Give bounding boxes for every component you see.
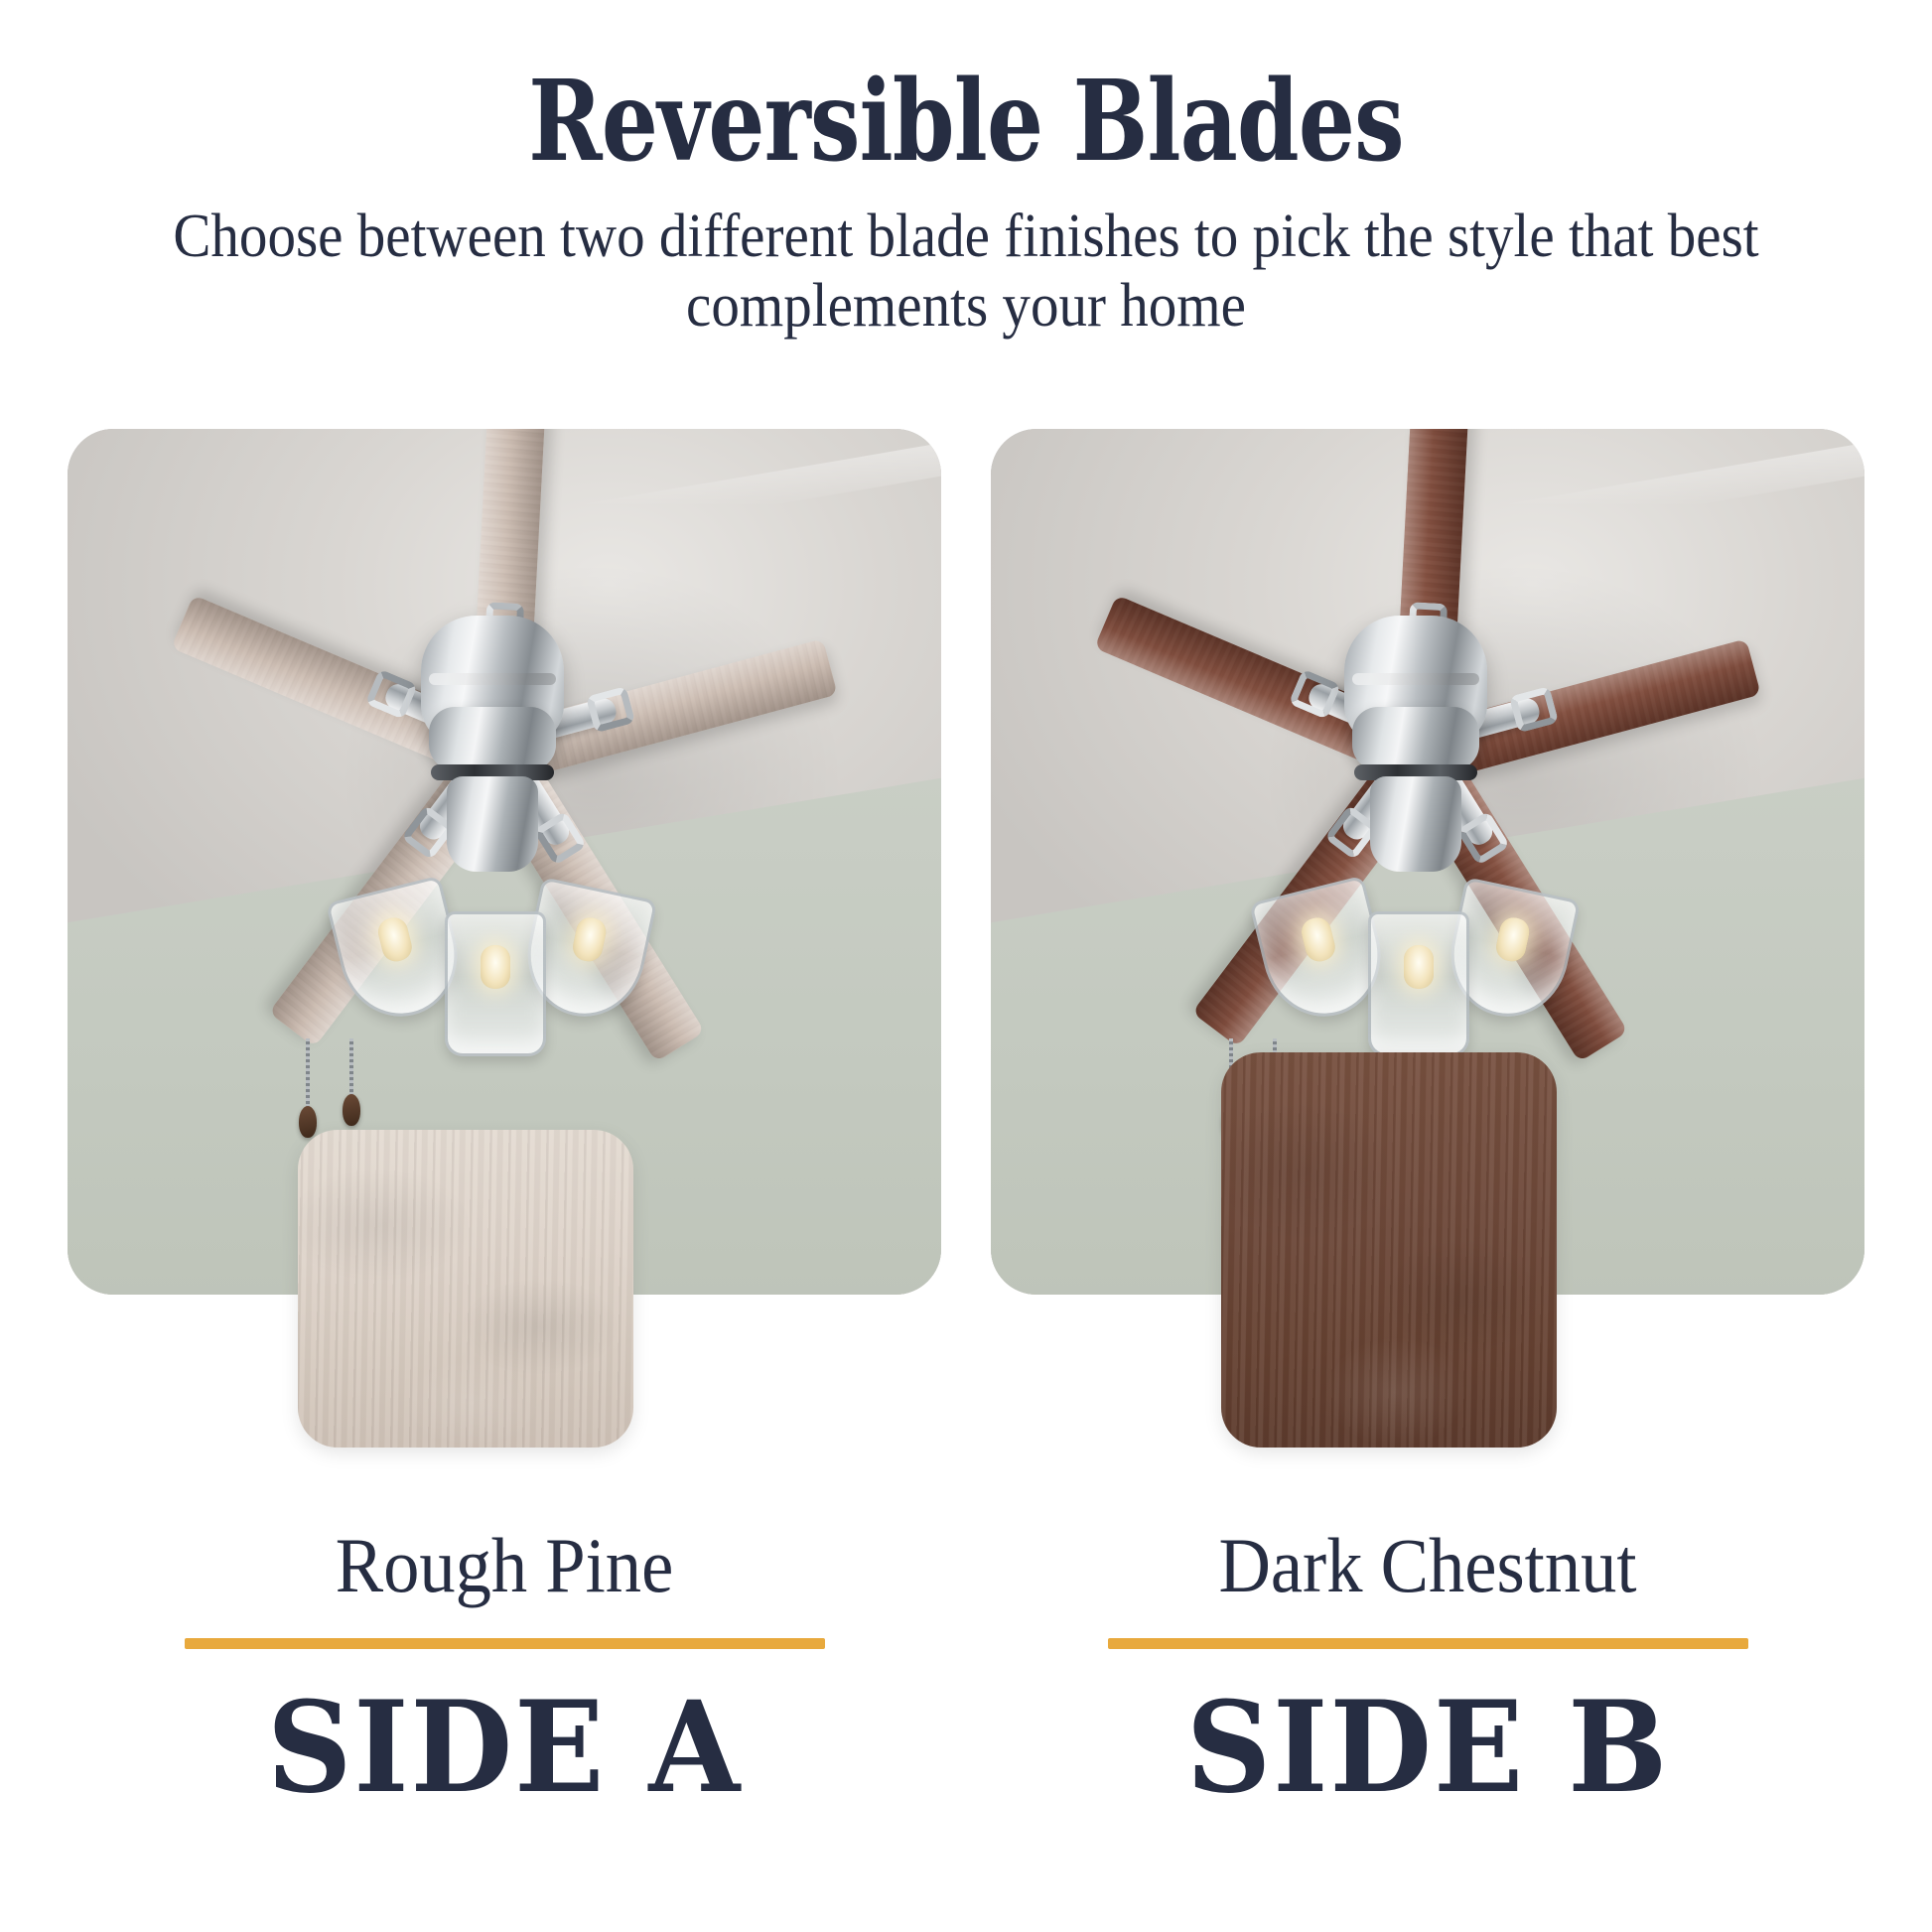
page-title: Reversible Blades — [194, 0, 1739, 179]
glass-shade — [445, 911, 546, 1056]
glass-shade — [1368, 911, 1469, 1056]
fan-motor-housing — [1352, 707, 1479, 770]
finish-name-label: Rough Pine — [98, 1527, 910, 1604]
fan-motor-housing — [429, 707, 556, 770]
light-kit — [334, 854, 651, 1062]
finish-swatch-rough-pine — [298, 1130, 633, 1448]
caption-side-b: Dark Chestnut SIDE B — [991, 1527, 1864, 1810]
light-kit — [1257, 854, 1575, 1062]
side-label: SIDE B — [1017, 1649, 1838, 1810]
gold-divider — [185, 1638, 825, 1649]
gold-divider — [1108, 1638, 1748, 1649]
page-subtitle: Choose between two different blade finis… — [77, 179, 1855, 341]
finish-swatch-dark-chestnut — [1221, 1052, 1557, 1448]
swatch-shading — [298, 1130, 633, 1448]
pull-chain — [306, 1038, 310, 1112]
swatch-shading — [1221, 1052, 1557, 1448]
pull-chain — [349, 1038, 353, 1100]
side-label: SIDE A — [93, 1649, 914, 1810]
caption-side-a: Rough Pine SIDE A — [68, 1527, 941, 1810]
header: Reversible Blades Choose between two dif… — [0, 0, 1932, 341]
finish-name-label: Dark Chestnut — [1022, 1527, 1834, 1604]
